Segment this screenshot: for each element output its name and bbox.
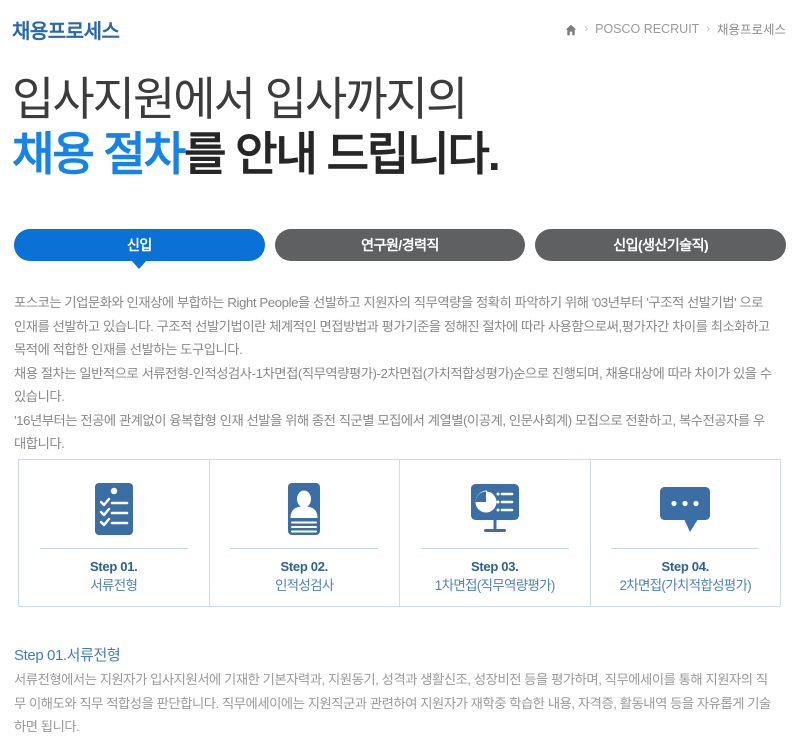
step-detail-title: Step 01.서류전형	[14, 644, 776, 665]
step-card-1[interactable]: Step 01. 서류전형	[19, 460, 209, 606]
step-divider-3	[421, 548, 569, 549]
hero-accent-text: 채용 절차	[12, 128, 184, 180]
hero-line-1: 입사지원에서 입사까지의	[12, 72, 712, 126]
tab-sinip-label: 신입	[127, 237, 152, 253]
intro-paragraph-3: '16년부터는 전공에 관계없이 융복합형 인재 선발을 위해 종전 직군별 모…	[14, 409, 774, 456]
step-detail-body: 서류전형에서는 지원자가 입사지원서에 기재한 기본자력과, 지원동기, 성격과…	[14, 668, 776, 736]
page-title: 채용프로세스	[12, 15, 119, 44]
step-divider-2	[230, 548, 378, 549]
breadcrumb-separator-2: ›	[706, 23, 710, 35]
hero-heading: 입사지원에서 입사까지의 채용 절차를 안내 드립니다.	[12, 72, 712, 182]
home-icon[interactable]	[565, 24, 577, 36]
step-card-2[interactable]: Step 02. 인적성검사	[209, 460, 400, 606]
tab-sinip-production[interactable]: 신입(생산기술직)	[535, 229, 786, 261]
intro-text: 포스코는 기업문화와 인재상에 부합하는 Right People을 선발하고 …	[14, 291, 774, 456]
category-tabs: 신입 연구원/경력직 신입(생산기술직)	[14, 229, 786, 265]
step-divider-4	[611, 548, 759, 549]
breadcrumb-item-current: 채용프로세스	[717, 19, 786, 38]
clipboard-checklist-icon	[90, 476, 138, 542]
tab-sinip-production-label: 신입(생산기술직)	[613, 237, 708, 253]
step-card-4[interactable]: Step 04. 2차면접(가치적합성평가)	[590, 460, 781, 606]
recruit-process-page: 채용프로세스 › POSCO RECRUIT › 채용프로세스 입사지원에서 입…	[0, 0, 800, 736]
step-card-3[interactable]: Step 03. 1차면접(직무역량평가)	[399, 460, 590, 606]
id-card-person-icon	[280, 476, 328, 542]
step-name-3: 1차면접(직무역량평가)	[435, 576, 555, 596]
step-name-2: 인적성검사	[275, 576, 334, 596]
breadcrumb: › POSCO RECRUIT › 채용프로세스	[565, 19, 786, 38]
top-bar: 채용프로세스 › POSCO RECRUIT › 채용프로세스	[0, 0, 800, 52]
intro-paragraph-1: 포스코는 기업문화와 인재상에 부합하는 Right People을 선발하고 …	[14, 291, 774, 362]
step-label-4: Step 04.	[662, 558, 709, 576]
hero-rest-text: 를 안내 드립니다.	[184, 128, 499, 180]
step-divider-1	[40, 548, 188, 549]
tab-researcher-experienced[interactable]: 연구원/경력직	[275, 229, 526, 261]
intro-paragraph-2: 채용 절차는 일반적으로 서류전형-인적성검사-1차면접(직무역량평가)-2차면…	[14, 362, 774, 409]
step-label-1: Step 01.	[90, 558, 137, 576]
step-cards: Step 01. 서류전형 Step 02. 인적성검사	[18, 459, 781, 607]
step-detail-section: Step 01.서류전형 서류전형에서는 지원자가 입사지원서에 기재한 기본자…	[14, 644, 776, 736]
breadcrumb-separator-1: ›	[584, 23, 588, 35]
step-name-1: 서류전형	[90, 576, 137, 596]
breadcrumb-item-posco-recruit[interactable]: POSCO RECRUIT	[595, 22, 699, 36]
step-label-3: Step 03.	[471, 558, 518, 576]
tab-sinip[interactable]: 신입	[14, 229, 265, 261]
presentation-chart-icon	[464, 476, 526, 542]
hero-line-2: 채용 절차를 안내 드립니다.	[12, 126, 712, 182]
tab-researcher-experienced-label: 연구원/경력직	[361, 237, 439, 253]
step-name-4: 2차면접(가치적합성평가)	[619, 576, 751, 596]
speech-bubble-icon	[654, 476, 716, 542]
step-label-2: Step 02.	[281, 558, 328, 576]
